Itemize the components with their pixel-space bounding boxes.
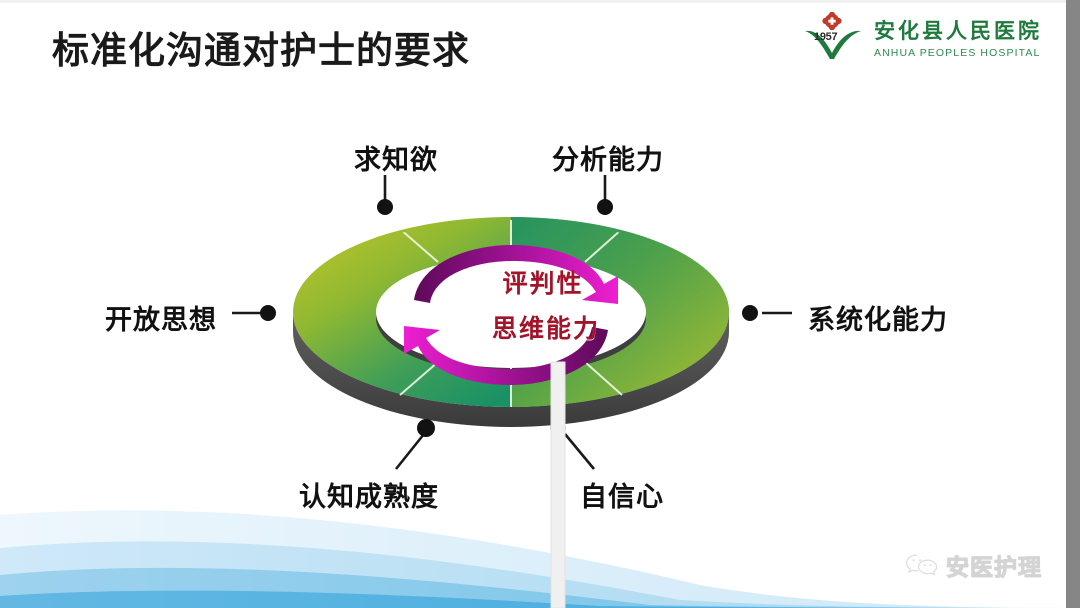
right-margin-strip bbox=[1066, 0, 1080, 608]
vertical-guide-bar bbox=[551, 362, 565, 608]
hospital-name-en: ANHUA PEOPLES HOSPITAL bbox=[874, 47, 1042, 59]
logo-cross-flower-icon bbox=[822, 12, 841, 30]
wechat-watermark: 安医护理 bbox=[905, 548, 1042, 582]
hospital-name-cn: 安化县人民医院 bbox=[874, 15, 1042, 45]
dot-analysis bbox=[597, 199, 613, 215]
node-label-curiosity: 求知欲 bbox=[354, 138, 438, 177]
node-label-openness: 开放思想 bbox=[105, 298, 217, 337]
wechat-icon bbox=[905, 552, 939, 578]
logo-year: 1957 bbox=[814, 31, 837, 43]
dot-maturity bbox=[417, 419, 435, 437]
watermark-text: 安医护理 bbox=[946, 548, 1042, 582]
node-label-systematic: 系统化能力 bbox=[808, 298, 948, 337]
node-label-maturity: 认知成熟度 bbox=[299, 475, 439, 514]
page-title: 标准化沟通对护士的要求 bbox=[52, 20, 470, 74]
dot-openness bbox=[260, 305, 276, 321]
dot-curiosity bbox=[377, 199, 393, 215]
hospital-logo-mark: 1957 bbox=[803, 12, 865, 62]
node-label-analysis: 分析能力 bbox=[552, 138, 664, 177]
hospital-logo: 1957 安化县人民医院 ANHUA PEOPLES HOSPITAL bbox=[803, 10, 1042, 64]
node-label-confidence: 自信心 bbox=[580, 475, 664, 514]
slide-canvas: 标准化沟通对护士的要求 1957 安化县人民医院 bbox=[0, 0, 1080, 608]
dot-systematic bbox=[742, 305, 758, 321]
hospital-logo-text: 安化县人民医院 ANHUA PEOPLES HOSPITAL bbox=[874, 15, 1042, 59]
